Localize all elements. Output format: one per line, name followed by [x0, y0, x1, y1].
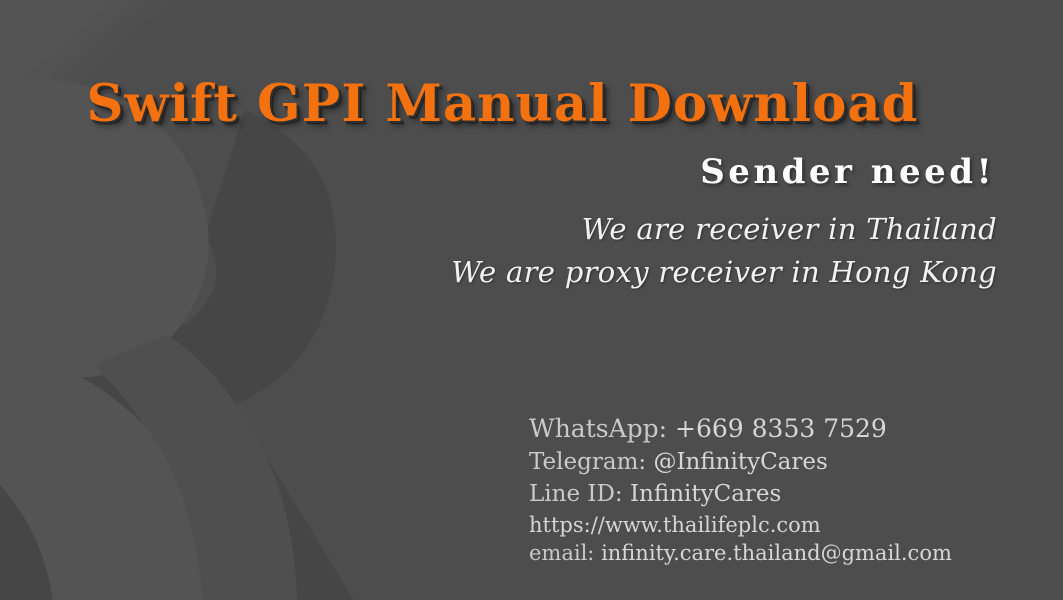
contact-website-value[interactable]: https://www.thailifeplc.com	[529, 513, 821, 537]
tagline-line-2: We are proxy receiver in Hong Kong	[451, 251, 997, 294]
contact-line-id-label: Line ID:	[529, 481, 623, 507]
contact-telegram: Telegram: @InfinityCares	[529, 451, 952, 474]
poster-canvas: Swift GPI Manual Download Sender need! W…	[0, 0, 1063, 600]
contact-block: WhatsApp: +669 8353 7529 Telegram: @Infi…	[529, 416, 952, 571]
contact-whatsapp-value[interactable]: +669 8353 7529	[675, 414, 887, 443]
contact-email-label: email:	[529, 541, 594, 565]
tagline-line-1: We are receiver in Thailand	[451, 208, 997, 251]
contact-line-id-value[interactable]: InfinityCares	[630, 481, 781, 507]
contact-telegram-value[interactable]: @InfinityCares	[653, 449, 827, 475]
contact-website[interactable]: https://www.thailifeplc.com	[529, 515, 952, 536]
contact-whatsapp-label: WhatsApp:	[529, 414, 667, 443]
subtitle-sender-need: Sender need!	[700, 155, 995, 189]
contact-whatsapp: WhatsApp: +669 8353 7529	[529, 416, 952, 441]
contact-line-id: Line ID: InfinityCares	[529, 483, 952, 506]
contact-telegram-label: Telegram:	[529, 449, 646, 475]
tagline-block: We are receiver in Thailand We are proxy…	[451, 208, 997, 294]
contact-email-value[interactable]: infinity.care.thailand@gmail.com	[601, 541, 952, 565]
page-title: Swift GPI Manual Download	[0, 79, 1005, 130]
contact-email: email: infinity.care.thailand@gmail.com	[529, 543, 952, 564]
